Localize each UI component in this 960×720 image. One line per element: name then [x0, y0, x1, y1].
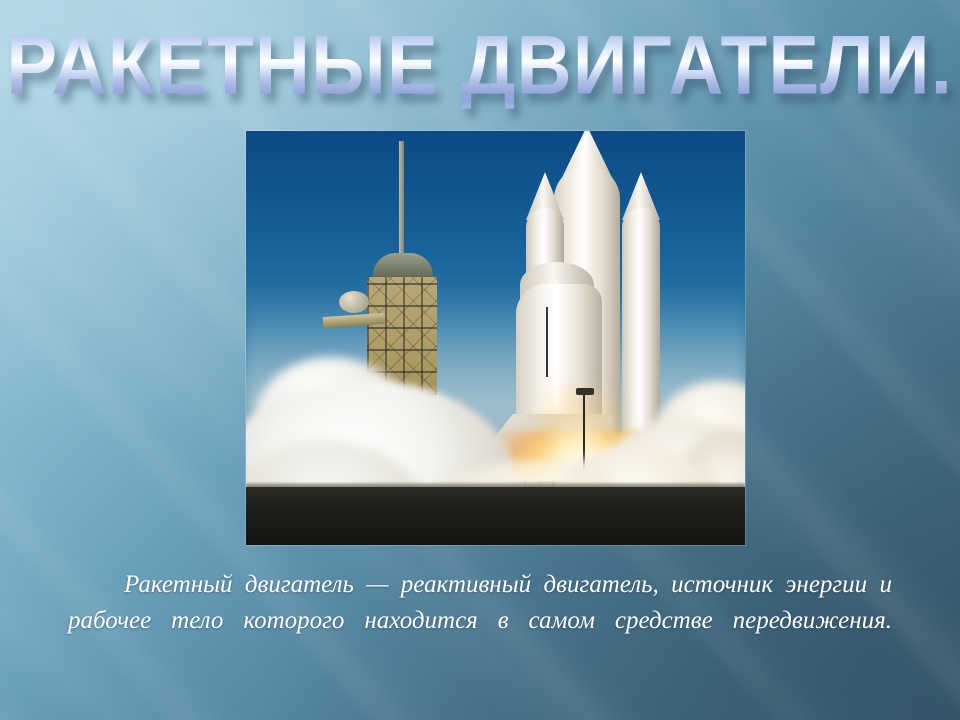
tower-vent-hood: [339, 291, 369, 313]
slide-body-text: Ракетный двигатель — реактивный двигател…: [68, 567, 892, 674]
photo-ground: [246, 487, 745, 545]
pad-pole-upper: [546, 307, 548, 377]
tower-cap: [373, 253, 433, 279]
tower-lightning-mast: [399, 141, 404, 261]
presentation-slide: РАКЕТНЫЕ ДВИГАТЕЛИ. USA: [0, 0, 960, 720]
shuttle-launch-image: USA: [246, 131, 745, 545]
slide-title-container: РАКЕТНЫЕ ДВИГАТЕЛИ.: [0, 24, 960, 97]
slide-title: РАКЕТНЫЕ ДВИГАТЕЛИ.: [7, 24, 954, 109]
